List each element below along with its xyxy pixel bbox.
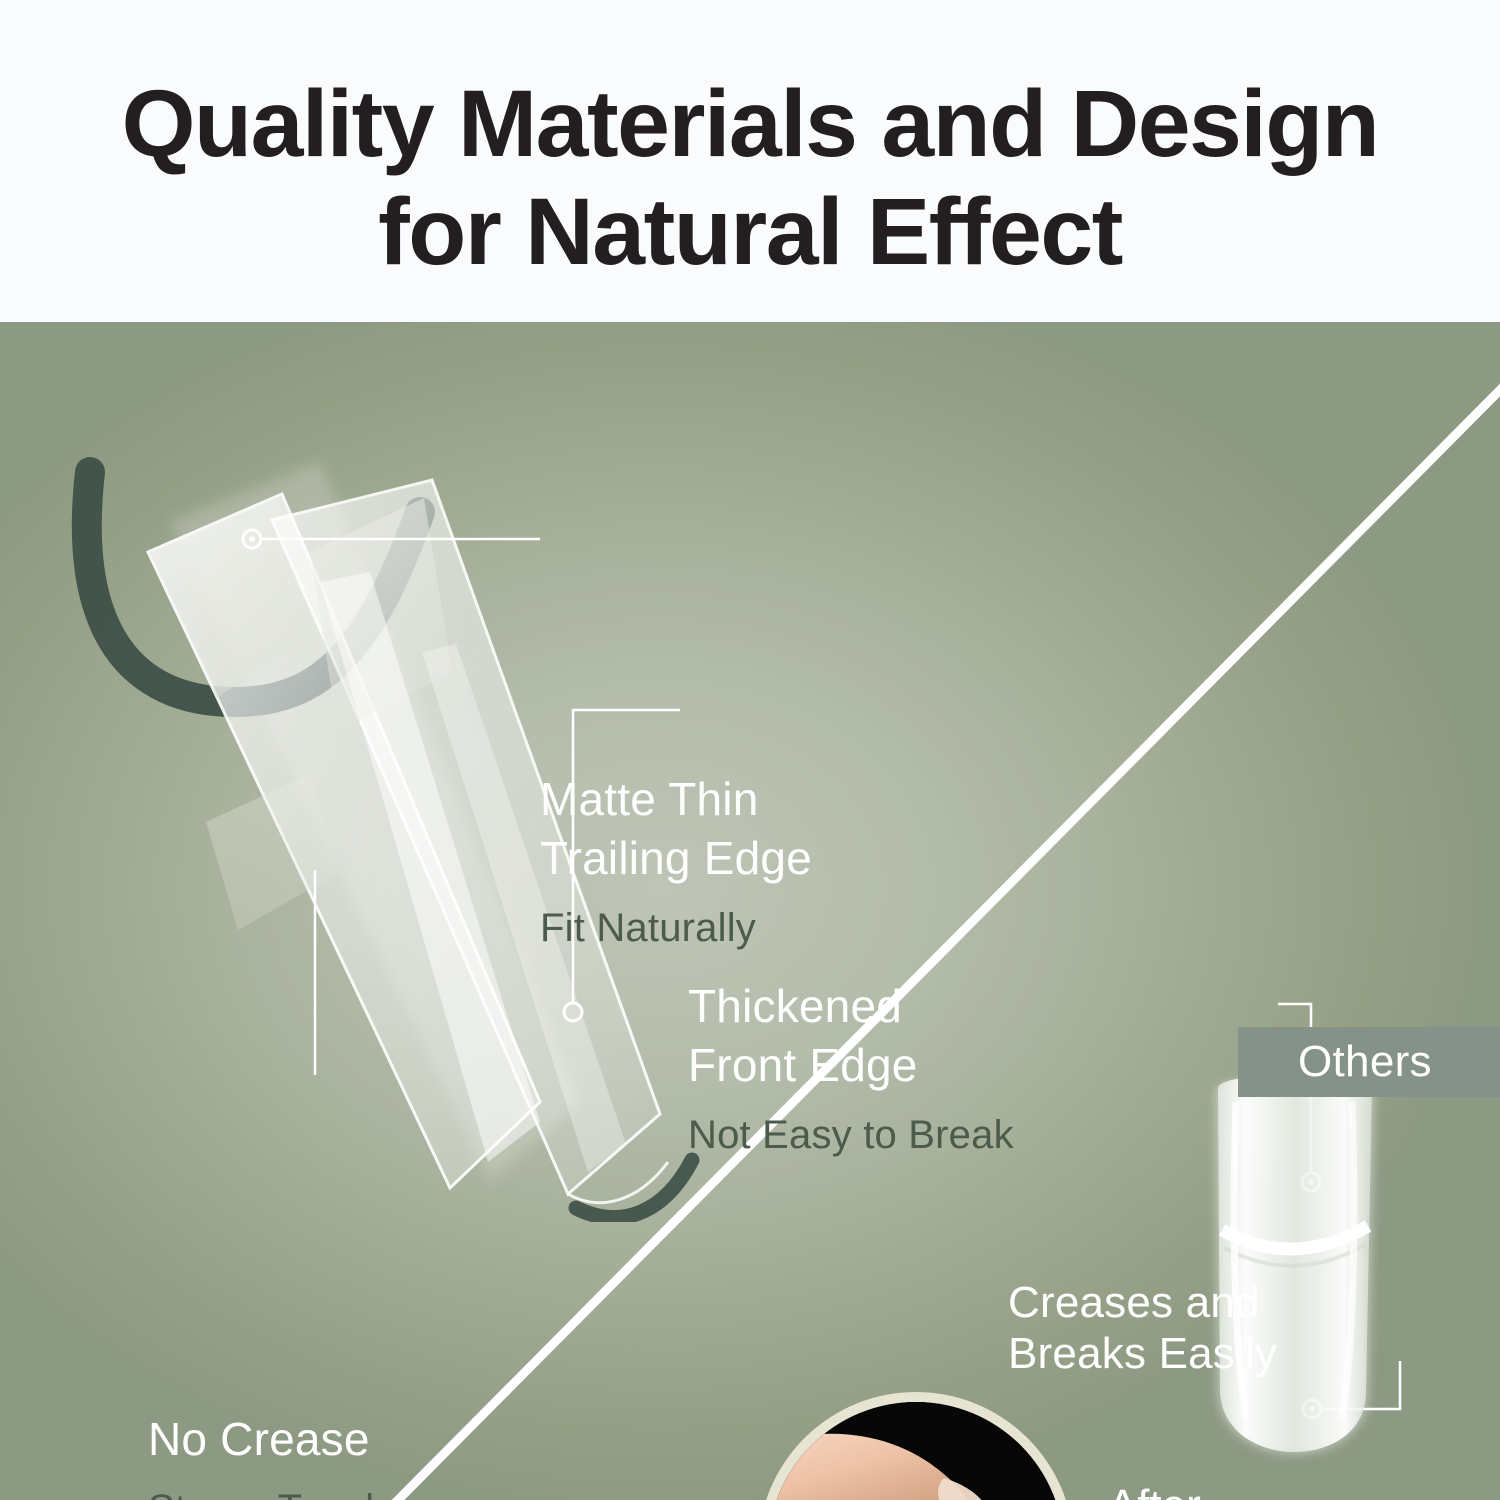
callout-thickened-front-edge: Thickened Front Edge Not Easy to Break (688, 977, 1014, 1161)
callout-headline: No Crease (148, 1410, 473, 1469)
callout-headline: Matte Thin Trailing Edge (540, 770, 812, 888)
callout-matte-thin-trailing-edge: Matte Thin Trailing Edge Fit Naturally (540, 770, 812, 954)
callout-subline: Not Easy to Break (688, 1109, 1014, 1161)
infographic-page: Quality Materials and Design for Natural… (0, 0, 1500, 1500)
callout-headline: Thickened Front Edge (688, 977, 1014, 1095)
leader-no-crease (306, 870, 326, 1080)
callout-headline: Creases and Breaks Easily (1008, 1277, 1277, 1379)
page-title: Quality Materials and Design for Natural… (0, 70, 1500, 287)
callout-no-crease: No Crease Strong Toughness (148, 1410, 473, 1500)
callout-creases-and-breaks-easily: Creases and Breaks Easily (1008, 1277, 1277, 1379)
competitor-badge-label: Others (1298, 1037, 1432, 1087)
fingers-holding-tip-photo (768, 1402, 1064, 1500)
leader-abs (1290, 1357, 1420, 1442)
header-band: Quality Materials and Design for Natural… (0, 0, 1500, 322)
callout-subline: Fit Naturally (540, 902, 812, 954)
competitor-badge-others: Others (1238, 1027, 1500, 1097)
bend-demo-photo (768, 1402, 1064, 1500)
callout-subline: Strong Toughness (148, 1483, 473, 1500)
leader-matte-thin (240, 512, 550, 552)
comparison-panel: Matte Thin Trailing Edge Fit Naturally T… (0, 322, 1500, 1500)
label-after-bend: After Bend (1098, 1480, 1201, 1500)
